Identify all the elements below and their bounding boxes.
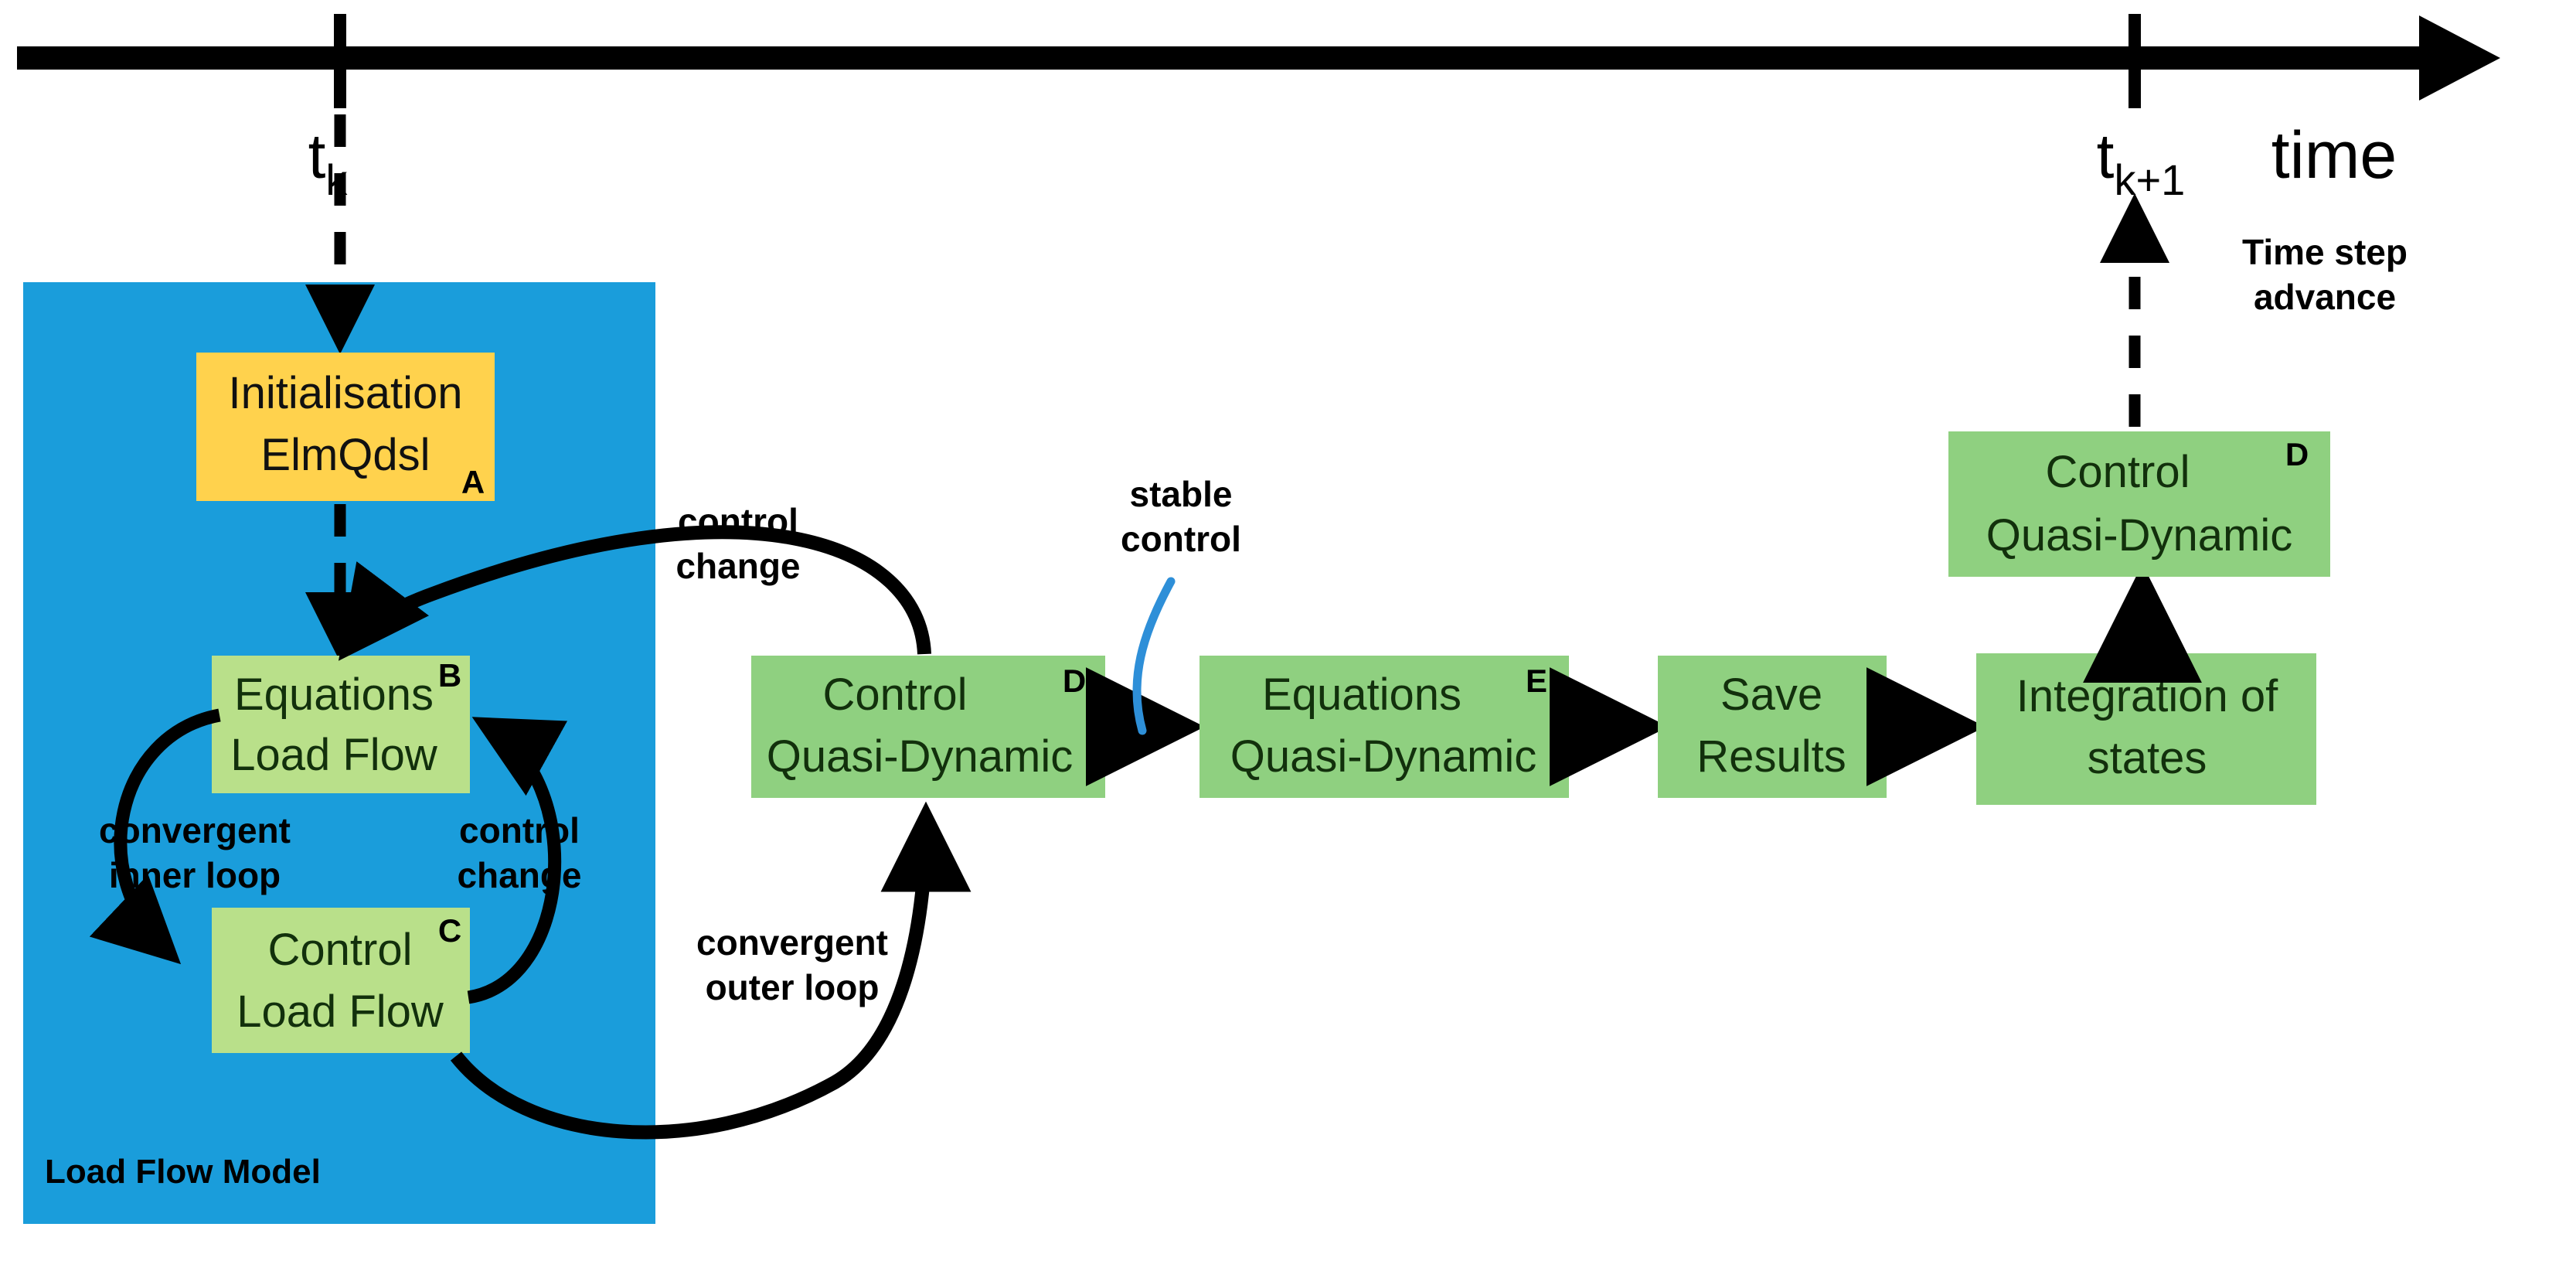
node-e-tag: E [1526, 663, 1547, 699]
load-flow-model-label: Load Flow Model [45, 1153, 321, 1191]
node-save-results[interactable]: Save Results [1658, 656, 1887, 798]
node-d2-tag: D [2285, 436, 2309, 472]
node-b-line2: Load Flow [230, 730, 438, 780]
node-equations-quasi-dynamic[interactable]: Equations Quasi-Dynamic E [1200, 656, 1569, 798]
diagram-canvas: tk tk+1 time Load Flow Model Initialisat… [0, 0, 2576, 1261]
node-f-line1: Save [1720, 670, 1822, 720]
node-d2-line1: Control [2046, 447, 2190, 497]
node-g-line1: Integration of [2016, 671, 2278, 721]
node-e-line1: Equations [1262, 670, 1462, 720]
timeline-axis [17, 14, 2500, 108]
stable-control-curve [1137, 581, 1171, 731]
label-time-step-advance-line2: advance [2254, 277, 2396, 317]
node-control-load-flow[interactable]: Control Load Flow C [212, 908, 470, 1053]
node-a-line2: ElmQdsl [260, 430, 430, 480]
node-a-line1: Initialisation [228, 368, 462, 418]
node-control-quasi-dynamic-middle[interactable]: Control Quasi-Dynamic D [751, 656, 1105, 798]
node-c-tag: C [438, 912, 461, 949]
node-control-quasi-dynamic-top[interactable]: Control Quasi-Dynamic D [1948, 431, 2330, 577]
label-control-change-inner-line2: change [457, 855, 581, 895]
node-d1-line2: Quasi-Dynamic [767, 731, 1073, 782]
label-convergent-inner-loop-line1: convergent [99, 810, 291, 850]
label-convergent-outer-loop-line2: outer loop [706, 967, 880, 1007]
node-c-line2: Load Flow [237, 987, 444, 1037]
label-control-change-outer-line2: change [675, 546, 800, 586]
label-time-step-advance-line1: Time step [2242, 232, 2408, 272]
node-g-line2: states [2088, 733, 2207, 783]
timeline-arrowhead [2419, 15, 2500, 101]
label-stable-control-line1: stable [1130, 474, 1233, 514]
label-convergent-outer-loop-line1: convergent [696, 922, 888, 963]
node-d2-line2: Quasi-Dynamic [1986, 510, 2292, 561]
timeline-axis-label: time [2271, 118, 2397, 193]
node-b-line1: Equations [234, 670, 434, 720]
node-d1-line1: Control [823, 670, 968, 720]
node-e-line2: Quasi-Dynamic [1230, 731, 1536, 782]
label-control-change-outer-line1: control [678, 501, 798, 541]
label-control-change-inner-line1: control [459, 810, 580, 850]
node-c-line1: Control [268, 925, 413, 975]
quasi-dynamic-simulation-flow-diagram: tk tk+1 time Load Flow Model Initialisat… [0, 0, 2576, 1261]
node-integration-of-states[interactable]: Integration of states [1976, 653, 2316, 805]
tick-label-tk1: tk+1 [2097, 121, 2186, 204]
label-convergent-inner-loop-line2: inner loop [109, 855, 281, 895]
node-f-line2: Results [1696, 731, 1846, 782]
node-b-tag: B [438, 657, 461, 694]
node-initialisation-elmqdsl[interactable]: Initialisation ElmQdsl A [196, 353, 495, 501]
node-d1-tag: D [1063, 663, 1086, 699]
node-equations-load-flow[interactable]: Equations Load Flow B [212, 656, 470, 793]
node-a-tag: A [461, 464, 485, 500]
label-stable-control-line2: control [1121, 519, 1241, 559]
